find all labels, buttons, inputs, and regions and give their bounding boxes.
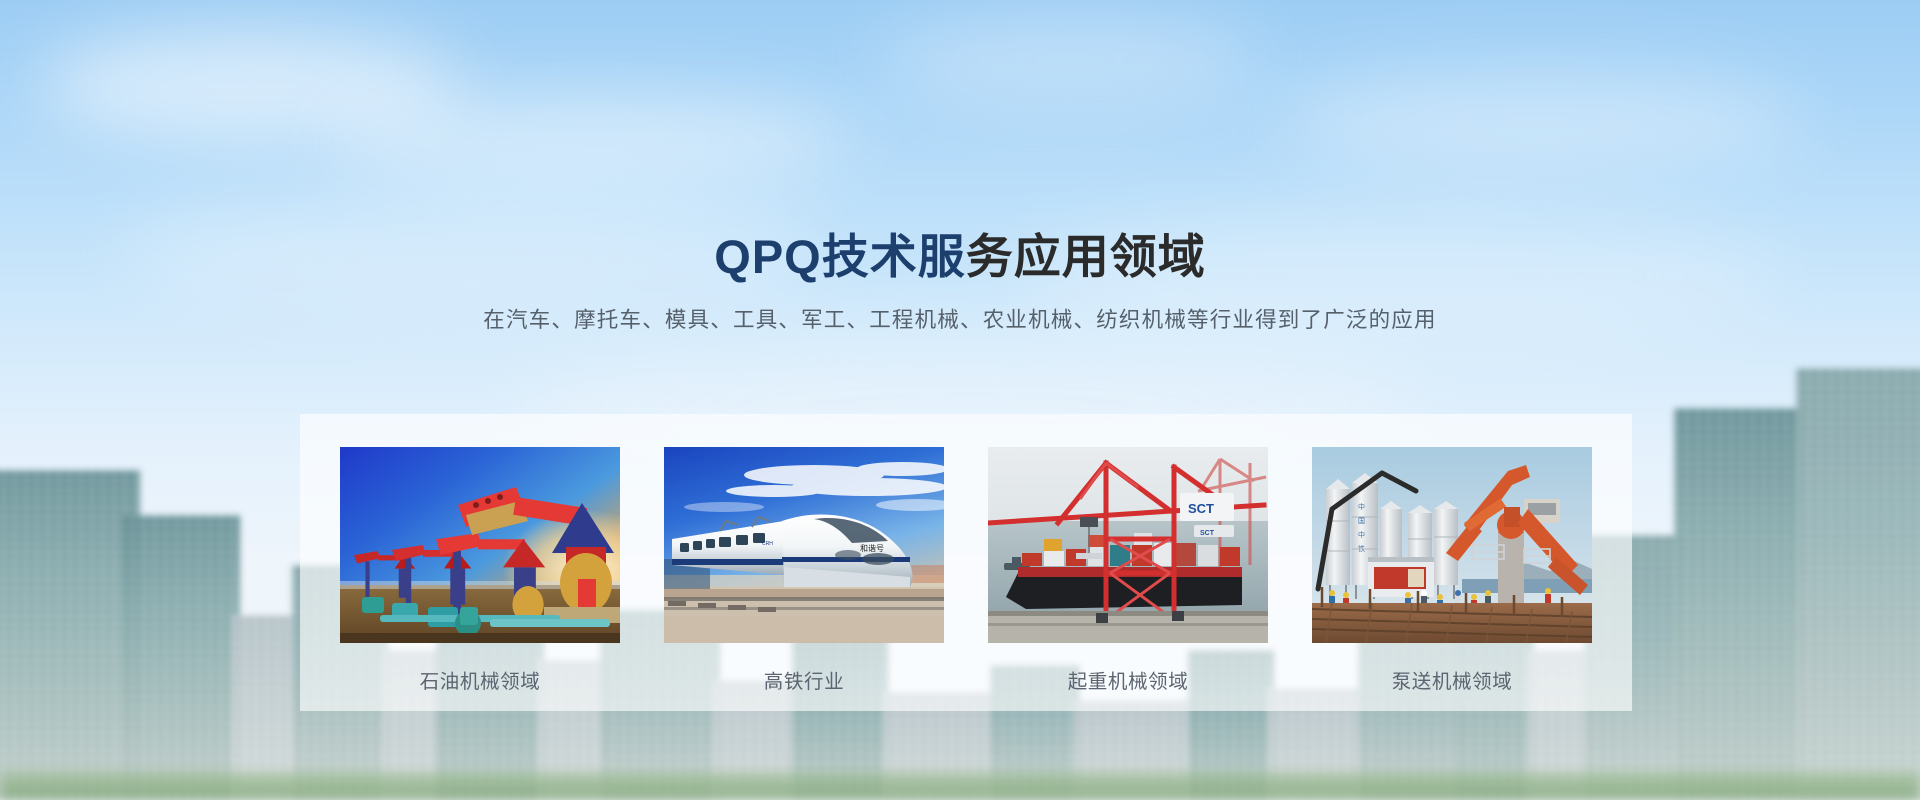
card-oil-machinery[interactable]: 石油机械领域: [340, 447, 620, 694]
page-title-rest: 务应用领域: [966, 230, 1206, 283]
hero-banner: QPQ技术服务应用领域 在汽车、摩托车、模具、工具、军工、工程机械、农业机械、纺…: [0, 0, 1920, 800]
hero-heading-group: QPQ技术服务应用领域 在汽车、摩托车、模具、工具、军工、工程机械、农业机械、纺…: [0, 0, 1920, 335]
concrete-pump-site-photo: 中 国 中 铁: [1312, 447, 1592, 643]
svg-text:CRH: CRH: [762, 541, 773, 547]
page-title: QPQ技术服务应用领域: [0, 231, 1920, 283]
card-lifting-machinery[interactable]: SCT SCT 起重机械领域: [988, 447, 1268, 694]
card-caption: 石油机械领域: [340, 665, 620, 694]
card-caption: 泵送机械领域: [1312, 665, 1592, 694]
card-caption: 起重机械领域: [988, 665, 1268, 694]
port-gantry-crane-photo: SCT SCT: [988, 447, 1268, 643]
svg-text:国: 国: [1358, 517, 1365, 525]
application-fields-panel: 石油机械领域: [300, 414, 1632, 711]
svg-text:和谐号: 和谐号: [860, 543, 884, 553]
svg-text:SCT: SCT: [1200, 530, 1215, 537]
page-title-accent: QPQ技术服: [714, 230, 965, 283]
card-high-speed-rail[interactable]: 和谐号 CRH: [664, 447, 944, 694]
svg-text:中: 中: [1358, 502, 1365, 511]
page-subtitle: 在汽车、摩托车、模具、工具、军工、工程机械、农业机械、纺织机械等行业得到了广泛的…: [0, 305, 1920, 335]
oil-pumpjack-photo: [340, 447, 620, 643]
card-caption: 高铁行业: [664, 665, 944, 694]
svg-text:SCT: SCT: [1188, 501, 1214, 516]
card-pumping-machinery[interactable]: 中 国 中 铁: [1312, 447, 1592, 694]
svg-text:中: 中: [1358, 530, 1365, 539]
high-speed-train-photo: 和谐号 CRH: [664, 447, 944, 643]
